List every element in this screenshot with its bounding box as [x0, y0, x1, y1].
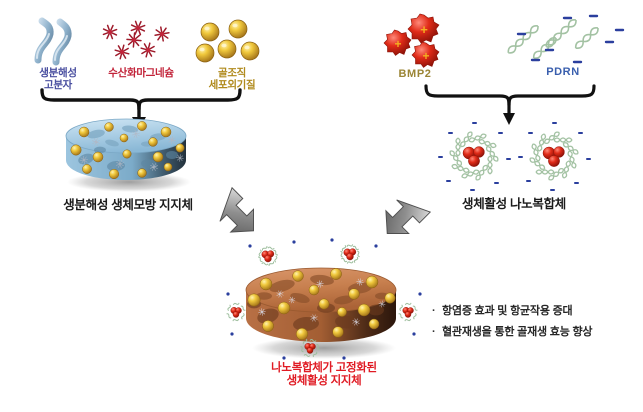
label-bioactive-scaffold: 나노복합체가 고정화된 생체활성 지지체 — [232, 362, 416, 388]
outcome-item-1: · 항염증 효과 및 항균작용 증대 — [432, 301, 638, 322]
outcome-text-2: 혈관재생을 통한 골재생 효능 향상 — [442, 322, 592, 343]
outcome-text-1: 항염증 효과 및 항균작용 증대 — [442, 301, 572, 322]
figure-canvas: 생분해성 고분자 — [0, 0, 643, 412]
label-pdrn: PDRN — [518, 66, 608, 78]
red-protein-particles-icon: + + + — [378, 14, 458, 76]
blue-porous-scaffold-disc-icon — [54, 112, 200, 194]
radial-nanocomplex-icon — [428, 118, 600, 194]
outcomes-list: · 항염증 효과 및 항균작용 증대 · 혈관재생을 통한 골재생 효능 향상 — [432, 301, 638, 344]
outcome-item-2: · 혈관재생을 통한 골재생 효능 향상 — [432, 322, 638, 343]
svg-text:+: + — [422, 49, 429, 63]
label-magnesium-hydroxide: 수산화마그네슘 — [91, 68, 191, 80]
wavy-polymer-strands-icon — [22, 12, 94, 68]
bullet-glyph-icon: · — [432, 322, 442, 343]
svg-text:+: + — [394, 37, 401, 51]
magnesium-hydroxide-particles-icon — [98, 18, 184, 70]
bullet-glyph-icon: · — [432, 301, 442, 322]
label-bioactive-nanocomplex: 생체활성 나노복합체 — [424, 197, 604, 211]
gray-arrow-left — [208, 192, 264, 240]
label-biomimetic-scaffold: 생분해성 생체모방 지지체 — [38, 198, 218, 212]
svg-text:+: + — [420, 22, 428, 37]
gray-arrow-right — [374, 192, 430, 240]
brown-porous-scaffold-disc-icon — [224, 238, 424, 366]
gold-nanoparticles-icon — [196, 18, 268, 72]
label-bmp2: BMP2 — [370, 68, 460, 80]
